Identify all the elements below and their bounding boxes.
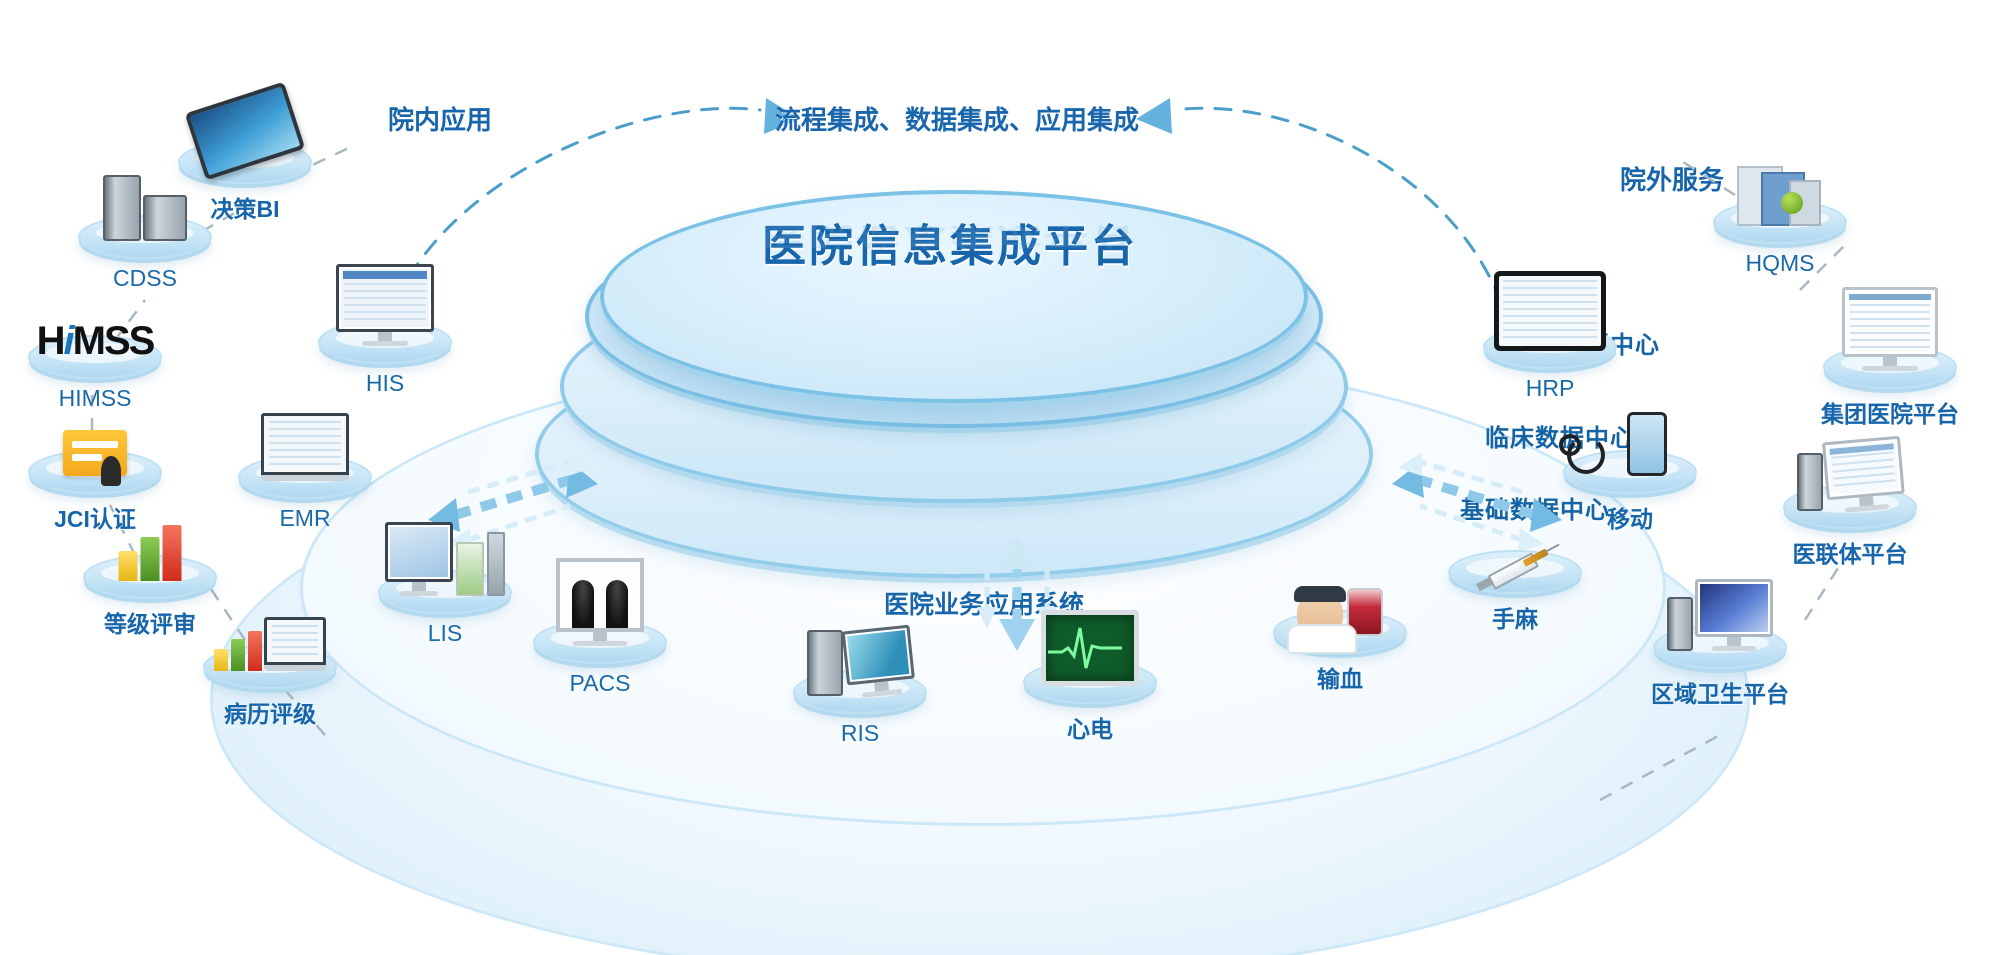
node-label: 移动	[1555, 500, 1705, 534]
pedestal	[378, 570, 512, 614]
pedestal	[83, 555, 217, 599]
node-label: 区域卫生平台	[1645, 675, 1795, 709]
pedestal	[238, 455, 372, 499]
node-label: HRP	[1475, 375, 1625, 402]
xray-monitor-icon	[556, 558, 644, 646]
node-ris[interactable]: RIS	[785, 670, 935, 747]
out-hospital-header: 院外服务	[1620, 160, 1724, 197]
node-label: HIMSS	[20, 385, 170, 412]
layer-label-operating: 运营数据中心	[585, 325, 2000, 360]
platform-title-reflection: 医院信息集成平台	[600, 221, 1300, 256]
syringe-icon	[1473, 560, 1557, 576]
node-label: RIS	[785, 720, 935, 747]
desktop-network-icon	[1797, 439, 1903, 511]
node-label: HIS	[310, 370, 460, 397]
node-record-rating[interactable]: 病历评级	[195, 645, 345, 729]
pedestal	[1713, 200, 1847, 244]
node-label: 等级评审	[75, 605, 225, 639]
pedestal	[1273, 610, 1407, 654]
node-label: EMR	[230, 505, 380, 532]
node-label: PACS	[525, 670, 675, 697]
layer-label-clinical: 临床数据中心	[560, 418, 2000, 453]
node-cdss[interactable]: CDSS	[70, 215, 220, 292]
node-anesthesia[interactable]: 手麻	[1440, 550, 1590, 634]
pedestal	[1563, 450, 1697, 494]
node-label: 心电	[1015, 710, 1165, 744]
pedestal	[1448, 550, 1582, 594]
node-group-hospital-platform[interactable]: 集团医院平台	[1815, 345, 1965, 429]
mobile-stethoscope-icon	[1593, 412, 1667, 476]
diagram-canvas: 医院信息集成平台 医院信息集成平台 运营数据中心 临床数据中心 基础数据中心 流…	[0, 0, 2000, 955]
pedestal	[178, 140, 312, 184]
pedestal	[203, 645, 337, 689]
desktop-portal-icon	[1842, 287, 1938, 371]
tablet-dashboard-icon	[1494, 271, 1606, 351]
folders-report-icon	[1737, 166, 1823, 226]
node-ecg[interactable]: 心电	[1015, 660, 1165, 744]
node-hqms[interactable]: HQMS	[1705, 200, 1855, 277]
node-label: LIS	[370, 620, 520, 647]
node-medical-alliance-platform[interactable]: 医联体平台	[1775, 485, 1925, 569]
integration-header: 流程集成、数据集成、应用集成	[775, 100, 1139, 137]
desktop-blue-icon	[1667, 579, 1773, 651]
node-grade-review[interactable]: 等级评审	[75, 555, 225, 639]
node-mobile[interactable]: 移动	[1555, 450, 1705, 534]
node-his[interactable]: HIS	[310, 320, 460, 397]
desktop-monitor-icon	[336, 264, 434, 346]
pedestal	[1783, 485, 1917, 529]
pedestal	[1653, 625, 1787, 669]
pedestal	[793, 670, 927, 714]
node-label: CDSS	[70, 265, 220, 292]
workstation-icon	[807, 628, 913, 696]
node-label: 病历评级	[195, 695, 345, 729]
blood-transfusion-icon	[1297, 588, 1383, 636]
laptop-icon	[261, 413, 349, 481]
in-hospital-header: 院内应用	[388, 100, 492, 137]
server-tower-icon	[103, 175, 187, 241]
node-lis[interactable]: LIS	[370, 570, 520, 647]
pedestal	[28, 450, 162, 494]
node-jci[interactable]: JCI认证	[20, 450, 170, 534]
pedestal: HiMSS	[28, 335, 162, 379]
tablet-bi-icon	[193, 96, 297, 166]
pedestal	[1483, 325, 1617, 369]
lab-analyzer-icon	[385, 522, 505, 596]
node-regional-health-platform[interactable]: 区域卫生平台	[1645, 625, 1795, 709]
node-label: 输血	[1265, 660, 1415, 694]
pedestal	[1823, 345, 1957, 389]
pedestal	[318, 320, 452, 364]
bar-chart-icon	[119, 527, 182, 581]
node-himss[interactable]: HiMSS HIMSS	[20, 335, 170, 412]
node-label: 集团医院平台	[1815, 395, 1965, 429]
node-hrp[interactable]: HRP	[1475, 325, 1625, 402]
node-transfusion[interactable]: 输血	[1265, 610, 1415, 694]
node-label: HQMS	[1705, 250, 1855, 277]
node-label: 医联体平台	[1775, 535, 1925, 569]
bidirectional-arrow-right	[1385, 440, 1570, 560]
node-decision-bi[interactable]: 决策BI	[170, 140, 320, 224]
pedestal	[1023, 660, 1157, 704]
himss-logo-icon: HiMSS	[37, 321, 154, 361]
certificate-stamp-icon	[63, 430, 127, 476]
node-label: 手麻	[1440, 600, 1590, 634]
node-emr[interactable]: EMR	[230, 455, 380, 532]
ecg-monitor-icon	[1041, 610, 1139, 686]
pedestal	[533, 620, 667, 664]
bar-chart-laptop-icon	[214, 617, 326, 671]
node-pacs[interactable]: PACS	[525, 620, 675, 697]
pedestal	[78, 215, 212, 259]
